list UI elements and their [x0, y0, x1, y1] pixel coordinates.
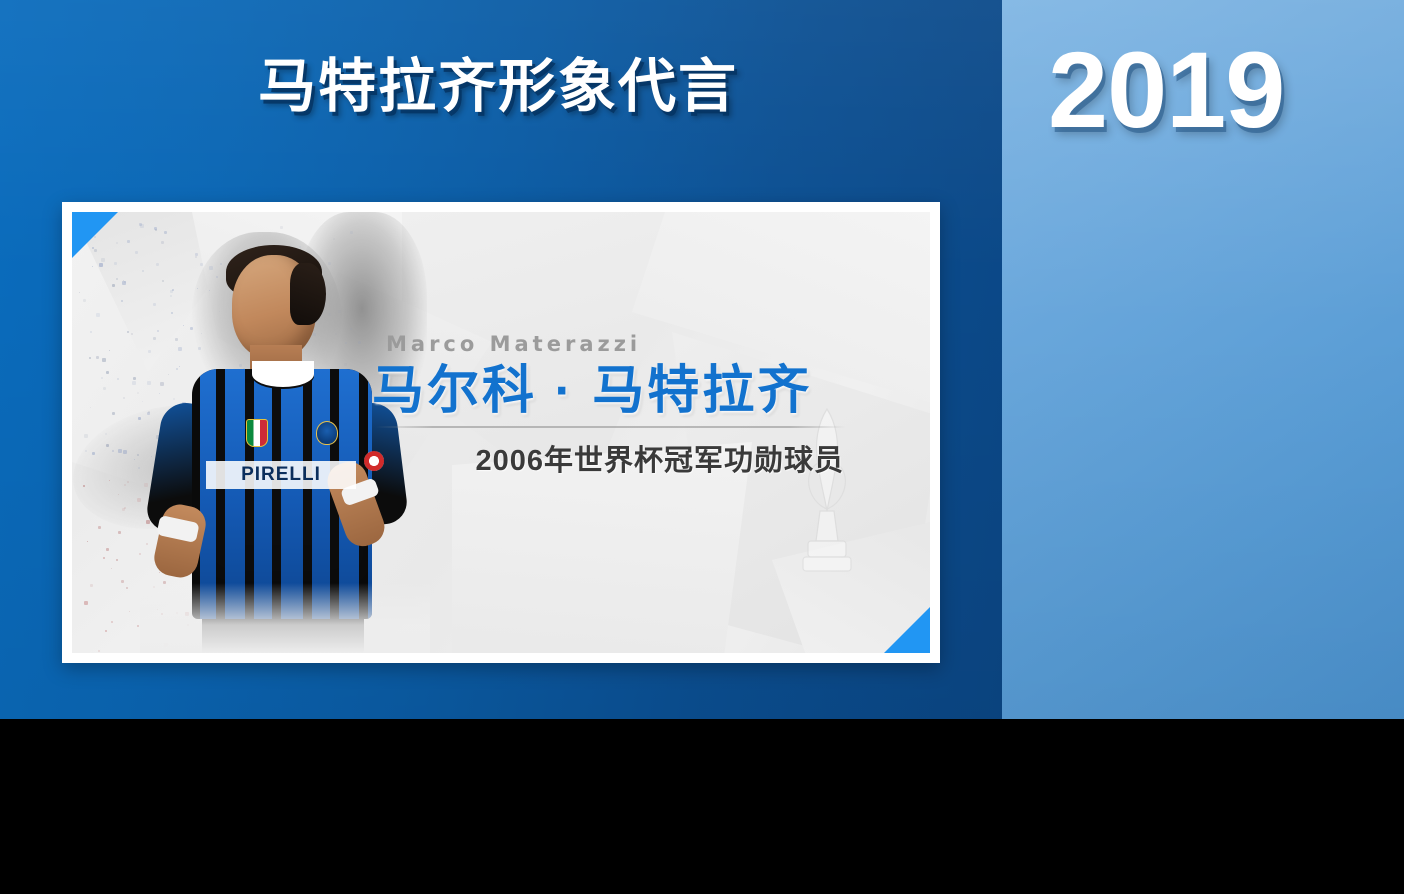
particle-dot — [135, 251, 138, 254]
particle-dot — [121, 580, 124, 583]
particle-dot — [109, 480, 110, 481]
particle-dot — [137, 625, 139, 627]
particle-dot — [116, 559, 118, 561]
particle-dot — [280, 226, 283, 229]
latin-name: Marco Materazzi — [386, 332, 872, 356]
jersey-collar — [252, 361, 314, 387]
player-bottom-fade — [140, 583, 430, 653]
particle-dot — [105, 433, 107, 435]
particle-dot — [112, 450, 114, 452]
particle-dot — [92, 452, 95, 455]
particle-dot — [79, 292, 80, 293]
particle-dot — [99, 263, 103, 267]
particle-dot — [122, 281, 126, 285]
particle-dot — [133, 377, 136, 380]
particle-dot — [118, 531, 121, 534]
chinese-name: 马尔科 · 马特拉齐 — [372, 362, 872, 420]
jersey-stripe — [254, 369, 272, 619]
particle-dot — [89, 357, 91, 359]
particle-dot — [132, 381, 136, 385]
particle-dot — [111, 568, 112, 569]
particle-dot — [122, 508, 125, 511]
particle-dot — [96, 313, 100, 317]
jersey-stripe — [200, 369, 216, 619]
jersey-stripe — [281, 369, 303, 619]
particle-dot — [131, 333, 133, 335]
particle-dot — [121, 300, 123, 302]
particle-dot — [85, 450, 87, 452]
particle-dot — [127, 481, 129, 483]
particle-dot — [90, 407, 91, 408]
particle-dot — [117, 378, 119, 380]
particle-dot — [83, 299, 86, 302]
particle-dot — [124, 281, 126, 283]
particle-dot — [116, 242, 118, 244]
particle-dot — [127, 240, 130, 243]
page-title: 马特拉齐形象代言 — [258, 58, 738, 116]
sleeve-patch-icon — [364, 451, 384, 471]
player-hair-side — [290, 263, 326, 325]
particle-dot — [96, 356, 99, 359]
particle-dot — [98, 650, 100, 652]
photo-card[interactable]: PIRELLI Marco Materazzi 马尔科 · 马特拉齐 2006年… — [62, 202, 940, 663]
particle-dot — [90, 584, 93, 587]
particle-dot — [83, 485, 85, 487]
particle-dot — [139, 223, 142, 226]
particle-dot — [124, 484, 126, 486]
particle-dot — [154, 227, 157, 230]
particle-dot — [134, 459, 135, 460]
card-text-block: Marco Materazzi 马尔科 · 马特拉齐 2006年世界杯冠军功勋球… — [372, 332, 872, 479]
particle-dot — [129, 611, 130, 612]
particle-dot — [101, 377, 103, 379]
particle-dot — [116, 278, 118, 280]
particle-dot — [92, 247, 94, 249]
particle-dot — [106, 444, 109, 447]
particle-dot — [105, 630, 107, 632]
particle-dot — [90, 331, 92, 333]
particle-dot — [84, 434, 88, 438]
particle-dot — [94, 236, 96, 238]
particle-dot — [137, 454, 139, 456]
jersey-sponsor-text: PIRELLI — [206, 461, 356, 489]
particle-dot — [112, 412, 115, 415]
year-label: 2019 — [1048, 36, 1284, 144]
particle-dot — [94, 249, 97, 252]
divider-rule — [376, 426, 846, 428]
particle-dot — [87, 541, 88, 542]
particle-dot — [112, 284, 115, 287]
card-subtitle: 2006年世界杯冠军功勋球员 — [372, 437, 844, 479]
particle-dot — [155, 229, 157, 231]
particle-dot — [127, 331, 129, 333]
particle-dot — [114, 262, 117, 265]
particle-dot — [124, 507, 126, 509]
particle-dot — [118, 449, 122, 453]
slide-stage: 马特拉齐形象代言 2019 — [0, 0, 1404, 719]
particle-dot — [106, 371, 109, 374]
particle-dot — [109, 350, 110, 351]
corner-accent-top-left-icon — [72, 212, 118, 258]
particle-dot — [123, 397, 125, 399]
club-crest-icon — [316, 421, 338, 445]
particle-dot — [126, 587, 128, 589]
particle-dot — [140, 224, 144, 228]
slide-bottom-letterbox — [0, 719, 1404, 894]
particle-dot — [98, 526, 101, 529]
particle-dot — [103, 387, 106, 390]
scudetto-badge-icon — [246, 419, 268, 447]
slide-root: 马特拉齐形象代言 2019 — [0, 0, 1404, 894]
photo-card-inner: PIRELLI Marco Materazzi 马尔科 · 马特拉齐 2006年… — [72, 212, 930, 653]
jersey-stripe — [225, 369, 245, 619]
particle-dot — [118, 494, 119, 495]
particle-dot — [102, 358, 106, 362]
particle-dot — [111, 621, 113, 623]
particle-dot — [101, 258, 105, 262]
jersey-stripe — [312, 369, 330, 619]
particle-dot — [103, 557, 105, 559]
particle-dot — [123, 450, 127, 454]
particle-dot — [92, 266, 93, 267]
particle-dot — [106, 548, 109, 551]
particle-dot — [84, 601, 88, 605]
corner-accent-bottom-right-icon — [884, 607, 930, 653]
particle-dot — [123, 280, 124, 281]
